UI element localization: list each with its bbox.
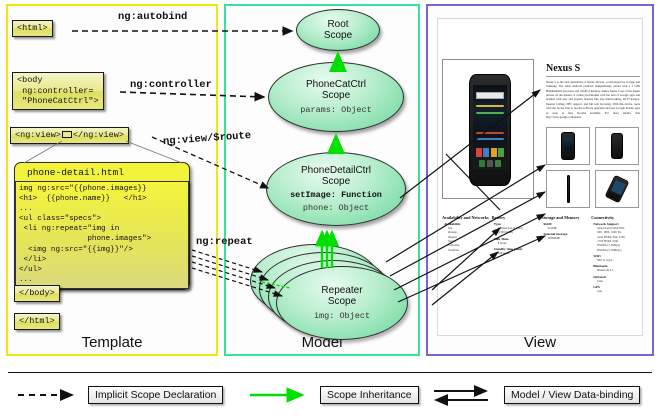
spec-row-value: HSUPA (5.76Mbps): [591, 248, 638, 252]
spec-column-battery: Battery Type Lithium Ion (Li-Ion) (1500 …: [492, 215, 539, 293]
scope-phonecatctrl: PhoneCatCtrl Scope params: Object: [268, 62, 404, 132]
legend-label: Model / View Data-binding: [504, 386, 640, 404]
spec-row-value: Vodafone: [442, 248, 489, 252]
spec-header: Connectivity: [591, 215, 638, 220]
scope-phonedetailctrl-line2: Scope: [322, 176, 350, 187]
scope-phonedetailctrl: PhoneDetailCtrl Scope setImage: Function…: [266, 152, 406, 226]
thumbnail-item[interactable]: [595, 170, 639, 208]
specs-table: Availability and Networks Availability M…: [442, 215, 638, 293]
product-description: Nexus S is the next generation of Nexus …: [546, 80, 640, 119]
phone-search-widget: [476, 92, 504, 99]
dock-icon-3: [495, 160, 501, 167]
spec-row-value: true: [591, 289, 638, 293]
code-card-title: phone-detail.html: [15, 165, 189, 181]
app-icon-2: [483, 148, 489, 157]
code-card-body: img ng:src="{{phone.images}} <h1> {{phon…: [15, 181, 189, 289]
screen-accent-3: [476, 132, 504, 134]
solid-arrow-icon: [248, 384, 314, 406]
scope-phonecatctrl-prop-params: params: Object: [300, 105, 371, 115]
legend-item-implicit-scope: Implicit Scope Declaration: [16, 384, 223, 406]
page-title: Nexus S: [546, 63, 640, 77]
legend-item-data-binding: Model / View Data-binding: [432, 384, 640, 406]
app-icon-4: [498, 148, 504, 157]
nexus-s-phone-image: [469, 74, 511, 186]
repeater-scope-line1: Repeater: [321, 285, 362, 296]
legend: Implicit Scope Declaration Scope Inherit…: [0, 372, 660, 420]
spec-row-value: (1500 mAH): [492, 230, 539, 234]
ngview-close-label: </ng:view>: [73, 130, 124, 140]
scope-phonedetailctrl-prop-setimage: setImage: Function: [290, 190, 382, 200]
phone-thumb-back-icon: [611, 133, 623, 159]
thumbnail-item[interactable]: [546, 127, 590, 165]
app-icon-3: [491, 148, 497, 157]
phone-app-icon-row: [476, 148, 504, 157]
phone-thumbnail-grid: [546, 127, 640, 208]
spec-row-value: false: [591, 279, 638, 283]
phone-thumb-front-icon: [561, 132, 575, 160]
scope-phonecatctrl-line2: Scope: [322, 90, 350, 101]
phone-dock-row: [479, 160, 501, 167]
ngview-open-label: <ng:view>: [15, 130, 61, 140]
screen-accent-2: [476, 112, 504, 114]
dock-icon-2: [487, 160, 493, 167]
panel-view-label: View: [428, 334, 652, 351]
spec-row-value: 512MB: [542, 226, 589, 230]
scope-root: Root Scope: [296, 9, 380, 51]
spec-row-value: Bluetooth 2.1: [591, 268, 638, 272]
phone-thumb-side-icon: [567, 175, 570, 203]
phone-screen: [473, 85, 507, 169]
body-close-tag-box: </body>: [14, 285, 60, 302]
legend-item-scope-inheritance: Scope Inheritance: [248, 384, 419, 406]
scope-root-line1: Root: [327, 19, 348, 30]
spec-column-availability: Availability and Networks Availability M…: [442, 215, 489, 293]
label-ng-autobind: ng:autobind: [118, 11, 187, 23]
scope-phonedetailctrl-line1: PhoneDetailCtrl: [301, 165, 371, 176]
spec-column-connectivity: Connectivity Network Support Quad-band G…: [591, 215, 638, 293]
app-icon-1: [476, 148, 482, 157]
body-tag-box: <body ng:controller= "PhoneCatCtrl">: [12, 72, 104, 110]
main-phone-photo-frame: [442, 59, 534, 199]
spec-row-value: 802.11 b/g/n: [591, 258, 638, 262]
legend-label: Implicit Scope Declaration: [88, 386, 223, 404]
html-tag-box: <html>: [12, 20, 53, 37]
spec-row-value: 16384MB: [542, 236, 589, 240]
phone-thumb-angled-icon: [605, 175, 630, 204]
spec-header: Storage and Memory: [542, 215, 589, 220]
spec-row-value: 8 hours: [492, 241, 539, 245]
spec-header: Battery: [492, 215, 539, 220]
label-ng-repeat: ng:repeat: [196, 236, 253, 248]
repeater-scope-front: Repeater Scope img: Object: [276, 266, 408, 340]
scope-phonedetailctrl-prop-phone: phone: Object: [303, 203, 369, 213]
panel-template-label: Template: [8, 334, 216, 351]
legend-divider: [8, 372, 652, 373]
ngview-placeholder-icon: [62, 131, 72, 138]
dock-icon-1: [479, 160, 485, 167]
screen-accent-1: [476, 105, 504, 107]
scope-root-line2: Scope: [324, 30, 352, 41]
ngview-tag-box: <ng:view></ng:view>: [10, 127, 129, 144]
repeater-scope-prop-img: img: Object: [314, 311, 370, 321]
thumbnail-item[interactable]: [546, 170, 590, 208]
repeater-scope-line2: Scope: [328, 296, 356, 307]
legend-label: Scope Inheritance: [320, 386, 419, 404]
diagram-root: Template Model View <html> <body ng:cont…: [0, 0, 660, 420]
spec-header: Availability and Networks: [442, 215, 489, 220]
phone-detail-code-card: phone-detail.html img ng:src="{{phone.im…: [14, 162, 190, 290]
dashed-arrow-icon: [16, 384, 82, 406]
spec-column-storage: Storage and Memory RAM 512MB Internal St…: [542, 215, 589, 293]
spec-row-value: 428 hours: [492, 251, 539, 255]
html-close-tag-box: </html>: [14, 313, 60, 330]
repeater-scope-stack: Repeater Scope img: Object: [250, 240, 410, 340]
view-title-block: Nexus S Nexus S is the next generation o…: [546, 63, 640, 119]
double-arrow-icon: [432, 384, 498, 406]
rendered-view-page: Nexus S Nexus S is the next generation o…: [437, 18, 643, 336]
scope-phonecatctrl-line1: PhoneCatCtrl: [306, 79, 366, 90]
label-ng-controller: ng:controller: [130, 79, 212, 91]
thumbnail-item[interactable]: [595, 127, 639, 165]
screen-accent-4: [476, 138, 504, 140]
